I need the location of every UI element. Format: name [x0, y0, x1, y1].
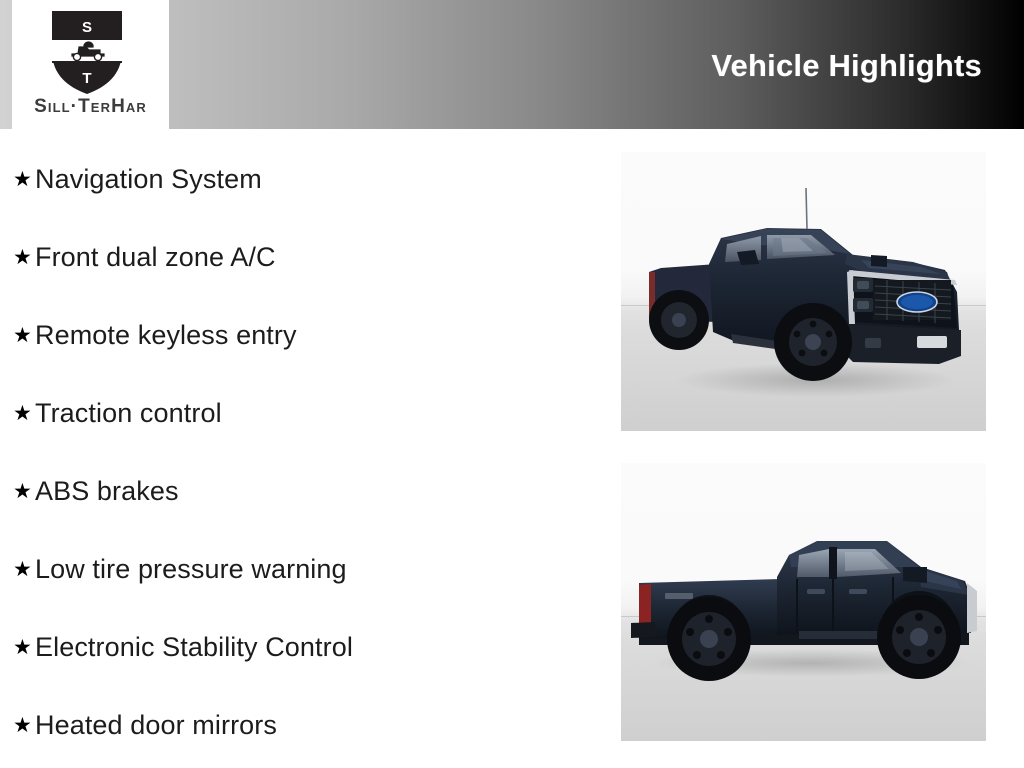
list-item: ★ Traction control [0, 374, 600, 452]
vehicle-features-list: ★ Navigation System ★ Front dual zone A/… [0, 140, 600, 764]
star-icon: ★ [13, 559, 35, 580]
feature-label: Traction control [35, 398, 222, 429]
feature-label: Low tire pressure warning [35, 554, 347, 585]
feature-label: Navigation System [35, 164, 262, 195]
star-icon: ★ [13, 637, 35, 658]
feature-label: Electronic Stability Control [35, 632, 353, 663]
feature-label: Remote keyless entry [35, 320, 297, 351]
dealer-logo[interactable]: S T Sill·TerHar [12, 0, 169, 129]
star-icon: ★ [13, 169, 35, 190]
list-item: ★ Heated door mirrors [0, 686, 600, 764]
star-icon: ★ [13, 715, 35, 736]
list-item: ★ Electronic Stability Control [0, 608, 600, 686]
dealer-wordmark: Sill·TerHar [12, 96, 169, 118]
list-item: ★ ABS brakes [0, 452, 600, 530]
truck-front-three-quarter-illustration [621, 152, 986, 431]
list-item: ★ Navigation System [0, 140, 600, 218]
list-item: ★ Low tire pressure warning [0, 530, 600, 608]
truck-side-profile-illustration [621, 463, 986, 741]
page-title: Vehicle Highlights [711, 48, 982, 84]
star-icon: ★ [13, 247, 35, 268]
svg-text:S: S [82, 19, 92, 36]
star-icon: ★ [13, 403, 35, 424]
star-icon: ★ [13, 325, 35, 346]
shield-icon: S T [48, 5, 126, 97]
feature-label: Heated door mirrors [35, 710, 277, 741]
list-item: ★ Remote keyless entry [0, 296, 600, 374]
feature-label: Front dual zone A/C [35, 242, 276, 273]
vehicle-photo-front[interactable] [621, 152, 986, 431]
vehicle-photo-side[interactable] [621, 463, 986, 741]
svg-text:T: T [82, 70, 91, 87]
list-item: ★ Front dual zone A/C [0, 218, 600, 296]
feature-label: ABS brakes [35, 476, 179, 507]
star-icon: ★ [13, 481, 35, 502]
